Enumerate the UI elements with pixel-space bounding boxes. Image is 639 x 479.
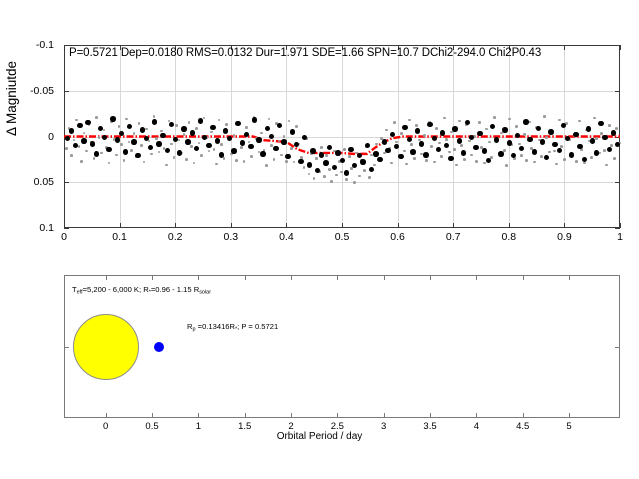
binned-data-point — [407, 137, 412, 142]
binned-data-point — [436, 147, 441, 152]
raw-data-point — [445, 138, 448, 141]
binned-data-point — [281, 139, 286, 144]
raw-data-point — [493, 116, 496, 119]
raw-data-point — [603, 149, 606, 152]
binned-data-point — [577, 144, 582, 149]
y-ticklabel: 0.1 — [39, 222, 54, 234]
rp-value: =0.13416R — [196, 322, 235, 331]
raw-data-point — [235, 159, 238, 162]
binned-data-point — [285, 154, 290, 159]
binned-data-point — [90, 141, 95, 146]
binned-data-point — [219, 152, 224, 157]
binned-data-point — [419, 141, 424, 146]
raw-data-point — [523, 133, 526, 136]
raw-data-point — [475, 160, 478, 163]
y-tick — [615, 228, 620, 229]
raw-data-point — [440, 155, 443, 158]
x-ticklabel: 0.4 — [279, 231, 294, 243]
x-tick — [620, 45, 621, 50]
binned-data-point — [536, 126, 541, 131]
raw-data-point — [458, 120, 461, 123]
binned-data-point — [160, 133, 165, 138]
binned-data-point — [427, 122, 432, 127]
raw-data-point — [453, 148, 456, 151]
raw-data-point — [285, 160, 288, 163]
raw-data-point — [543, 115, 546, 118]
binned-data-point — [115, 137, 120, 142]
binned-data-point — [231, 148, 236, 153]
raw-data-point — [575, 160, 578, 163]
x-ticklabel: 1 — [617, 231, 623, 243]
raw-data-point — [468, 140, 471, 143]
x-ticklabel: 0.9 — [557, 231, 572, 243]
raw-data-point — [393, 121, 396, 124]
binned-data-point — [81, 138, 86, 143]
raw-data-point — [525, 159, 528, 162]
binned-data-point — [385, 148, 390, 153]
binned-data-point — [452, 126, 457, 131]
rsolar-subscript: solar — [199, 290, 211, 296]
raw-data-point — [185, 158, 188, 161]
x-tick — [152, 413, 153, 418]
raw-data-point — [315, 157, 318, 160]
binned-data-point — [248, 144, 253, 149]
system-schematic-axes — [64, 275, 620, 418]
x-tick — [476, 413, 477, 418]
binned-data-point — [77, 123, 82, 128]
x-ticklabel: 0.3 — [223, 231, 238, 243]
binned-data-point — [486, 158, 491, 163]
raw-data-point — [368, 176, 371, 179]
raw-data-point — [415, 124, 418, 127]
binned-data-point — [398, 154, 403, 159]
binned-data-point — [461, 150, 466, 155]
raw-data-point — [488, 141, 491, 144]
raw-data-point — [408, 119, 411, 122]
binned-data-point — [260, 151, 265, 156]
planet-parameters-annotation: Rp =0.13416R*; P = 0.5721 — [187, 322, 278, 333]
raw-data-point — [578, 120, 581, 123]
raw-data-point — [463, 158, 466, 161]
binned-data-point — [177, 150, 182, 155]
raw-data-point — [200, 154, 203, 157]
binned-data-point — [290, 129, 295, 134]
raw-data-point — [335, 174, 338, 177]
raw-data-point — [328, 168, 331, 171]
binned-data-point — [440, 130, 445, 135]
raw-data-point — [613, 157, 616, 160]
x-tick — [245, 413, 246, 418]
x-ticklabel: 0.2 — [168, 231, 183, 243]
x-tick — [291, 413, 292, 418]
raw-data-point — [373, 164, 376, 167]
x-tick — [476, 275, 477, 280]
raw-data-point — [70, 154, 73, 157]
binned-data-point — [473, 145, 478, 150]
rstar-value: =0.96 - 1.15 R — [151, 285, 199, 294]
x-ticklabel: 0.6 — [390, 231, 405, 243]
binned-data-point — [402, 125, 407, 130]
binned-data-point — [586, 126, 591, 131]
binned-data-point — [373, 151, 378, 156]
raw-data-point — [295, 125, 298, 128]
raw-data-point — [118, 125, 121, 128]
raw-data-point — [555, 163, 558, 166]
plot-title-text: P=0.5721 Dep=0.0180 RMS=0.0132 Dur=1.971… — [69, 47, 541, 59]
binned-data-point — [348, 147, 353, 152]
raw-data-point — [615, 127, 618, 130]
x-tick — [198, 275, 199, 280]
binned-data-point — [110, 116, 115, 121]
binned-data-point — [165, 148, 170, 153]
raw-data-point — [515, 125, 518, 128]
binned-data-point — [152, 119, 157, 124]
binned-data-point — [569, 152, 574, 157]
binned-data-point — [502, 127, 507, 132]
raw-data-point — [260, 132, 263, 135]
y-ticklabel: 0 — [48, 131, 54, 143]
binned-data-point — [140, 127, 145, 132]
binned-data-point — [144, 136, 149, 141]
binned-data-point — [494, 137, 499, 142]
x-tick — [620, 223, 621, 228]
binned-data-point — [611, 130, 616, 135]
raw-data-point — [245, 126, 248, 129]
binned-data-point — [377, 157, 382, 162]
y-ticklabel: 0.05 — [34, 176, 54, 188]
binned-data-point — [240, 140, 245, 145]
raw-data-point — [170, 143, 173, 146]
system-schematic-panel: 00.511.522.533.544.55 Teff=5,200 - 6,000… — [64, 275, 620, 418]
raw-data-point — [115, 154, 118, 157]
binned-data-point — [594, 150, 599, 155]
binned-data-point — [344, 170, 349, 175]
raw-data-point — [280, 154, 283, 157]
binned-data-point — [498, 151, 503, 156]
raw-data-point — [520, 154, 523, 157]
binned-data-point — [106, 147, 111, 152]
x-tick — [523, 413, 524, 418]
raw-data-point — [505, 164, 508, 167]
binned-data-point — [256, 137, 261, 142]
binned-data-point — [548, 129, 553, 134]
raw-data-point — [160, 130, 163, 133]
planet-disk — [154, 342, 164, 352]
y-tick — [64, 347, 69, 348]
raw-data-point — [225, 123, 228, 126]
x-tick — [569, 413, 570, 418]
x-ticklabel: 0.5 — [335, 231, 350, 243]
binned-data-point — [65, 136, 70, 141]
binned-data-point — [557, 148, 562, 153]
binned-data-point — [156, 141, 161, 146]
x-tick — [337, 275, 338, 280]
binned-data-point — [415, 128, 420, 133]
y-tick — [615, 347, 620, 348]
x-tick — [106, 275, 107, 280]
binned-data-point — [135, 153, 140, 158]
raw-data-point — [423, 134, 426, 137]
binned-data-point — [482, 148, 487, 153]
binned-data-point — [335, 150, 340, 155]
raw-data-point — [425, 159, 428, 162]
y-ticklabel: -0.1 — [36, 39, 54, 51]
binned-data-point — [607, 147, 612, 152]
planet-period-value: ; P = 0.5721 — [237, 322, 278, 331]
x-tick — [430, 275, 431, 280]
x-tick — [245, 275, 246, 280]
raw-data-point — [195, 127, 198, 130]
raw-data-point — [595, 137, 598, 140]
x-ticklabel: 0.1 — [112, 231, 127, 243]
raw-data-point — [240, 146, 243, 149]
raw-data-point — [483, 162, 486, 165]
raw-data-point — [330, 180, 333, 183]
raw-data-point — [190, 145, 193, 148]
raw-data-point — [250, 155, 253, 158]
raw-data-point — [95, 116, 98, 119]
x-ticklabel: 0.7 — [446, 231, 461, 243]
raw-data-point — [563, 158, 566, 161]
raw-data-point — [75, 119, 78, 122]
binned-data-point — [273, 146, 278, 151]
x-tick — [337, 413, 338, 418]
raw-data-point — [405, 163, 408, 166]
raw-data-point — [150, 153, 153, 156]
raw-data-point — [590, 156, 593, 159]
raw-data-point — [65, 147, 68, 150]
binned-data-point — [298, 159, 303, 164]
x-tick — [569, 275, 570, 280]
y-tick — [64, 228, 69, 229]
raw-data-point — [363, 169, 366, 172]
binned-data-point — [507, 140, 512, 145]
raw-data-point — [430, 145, 433, 148]
binned-data-point — [457, 138, 462, 143]
raw-data-point — [290, 147, 293, 150]
raw-data-point — [413, 157, 416, 160]
binned-data-point — [185, 139, 190, 144]
raw-data-point — [455, 164, 458, 167]
raw-data-point — [265, 164, 268, 167]
raw-data-point — [375, 143, 378, 146]
raw-data-point — [358, 175, 361, 178]
binned-data-point — [323, 160, 328, 165]
x-tick — [430, 413, 431, 418]
raw-data-point — [478, 121, 481, 124]
raw-data-point — [353, 181, 356, 184]
raw-data-point — [323, 175, 326, 178]
raw-data-point — [545, 136, 548, 139]
raw-data-point — [343, 148, 346, 151]
binned-data-point — [310, 148, 315, 153]
raw-data-point — [410, 143, 413, 146]
raw-data-point — [120, 143, 123, 146]
raw-data-point — [605, 164, 608, 167]
raw-data-point — [123, 159, 126, 162]
binned-data-point — [181, 126, 186, 131]
binned-data-point — [423, 152, 428, 157]
x-tick — [384, 275, 385, 280]
binned-data-point — [432, 136, 437, 141]
raw-data-point — [80, 160, 83, 163]
raw-data-point — [345, 178, 348, 181]
raw-data-point — [448, 151, 451, 154]
raw-data-point — [470, 154, 473, 157]
star-parameters-annotation: Teff=5,200 - 6,000 K; R*=0.96 - 1.15 Rso… — [72, 285, 211, 296]
raw-data-point — [215, 163, 218, 166]
x-ticklabel: 0.8 — [501, 231, 516, 243]
raw-data-point — [175, 124, 178, 127]
binned-data-point — [194, 146, 199, 151]
raw-data-point — [518, 143, 521, 146]
binned-data-point — [190, 130, 195, 135]
x-tick — [384, 413, 385, 418]
raw-data-point — [400, 132, 403, 135]
raw-data-point — [155, 137, 158, 140]
raw-data-point — [348, 155, 351, 158]
x-axis-title-bottom: Orbital Period / day — [0, 431, 639, 442]
x-tick — [198, 413, 199, 418]
raw-data-point — [325, 154, 328, 157]
raw-data-point — [540, 155, 543, 158]
y-ticklabel: -0.05 — [30, 85, 54, 97]
binned-data-point — [307, 162, 312, 167]
binned-data-point — [265, 126, 270, 131]
binned-data-point — [210, 125, 215, 130]
binned-data-point — [382, 139, 387, 144]
raw-data-point — [210, 131, 213, 134]
teff-value: =5,200 - 6,000 K; — [83, 285, 144, 294]
host-star-disk — [73, 314, 139, 380]
raw-data-point — [320, 146, 323, 149]
raw-data-point — [460, 144, 463, 147]
binned-data-point — [319, 152, 324, 157]
binned-data-point — [410, 149, 415, 154]
lightcurve-panel: 00.10.20.30.40.50.60.70.80.91 -0.1-0.050… — [64, 45, 620, 228]
raw-data-point — [435, 127, 438, 130]
x-tick — [152, 275, 153, 280]
binned-data-point — [131, 139, 136, 144]
raw-data-point — [165, 164, 168, 167]
raw-data-point — [608, 124, 611, 127]
binned-data-point — [477, 131, 482, 136]
raw-data-point — [140, 144, 143, 147]
x-tick — [291, 275, 292, 280]
binned-data-point — [523, 119, 528, 124]
raw-data-point — [438, 142, 441, 145]
binned-data-point — [215, 138, 220, 143]
x-tick — [106, 413, 107, 418]
raw-data-point — [220, 143, 223, 146]
y-axis-title-text: Δ Magniutde — [4, 61, 19, 136]
binned-data-point — [448, 156, 453, 161]
binned-data-point — [94, 151, 99, 156]
binned-data-point — [602, 135, 607, 140]
x-ticklabel: 0 — [61, 231, 67, 243]
binned-data-point — [527, 137, 532, 142]
binned-data-point — [360, 159, 365, 164]
raw-data-point — [130, 149, 133, 152]
raw-data-point — [100, 152, 103, 155]
x-tick — [523, 275, 524, 280]
binned-data-point — [532, 149, 537, 154]
